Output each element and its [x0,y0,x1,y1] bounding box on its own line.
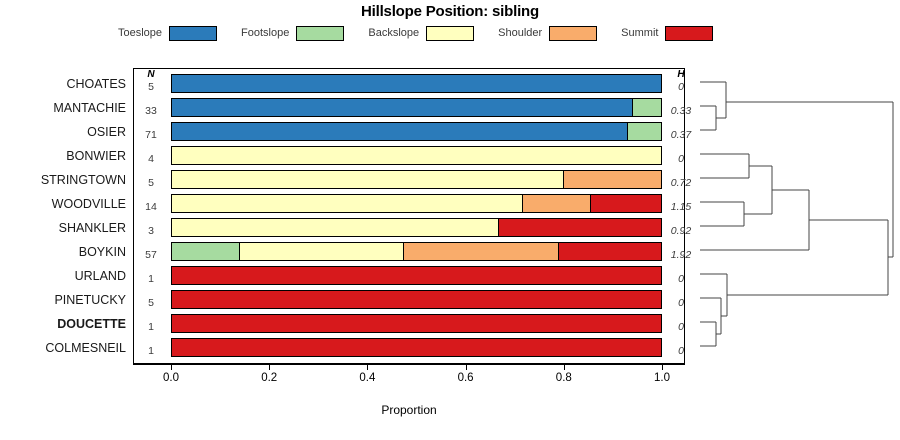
bar-row-pinetucky[interactable] [171,290,662,309]
bar-segment-footslope[interactable] [627,123,661,140]
bar-segment-backslope[interactable] [172,147,661,164]
bar-segment-shoulder[interactable] [403,243,559,260]
category-label-bonwier: BONWIER [0,149,126,163]
legend-item-backslope[interactable]: Backslope [368,26,498,41]
x-axis-line [133,364,685,365]
n-value: 33 [133,105,169,117]
n-value: 5 [133,177,169,189]
x-axis: 0.00.20.40.60.81.0 [133,364,685,404]
bar-row-boykin[interactable] [171,242,662,261]
legend-label: Shoulder [498,27,542,39]
bar-segment-backslope[interactable] [172,219,498,236]
bar-segment-toeslope[interactable] [172,99,632,116]
bar-segment-shoulder[interactable] [522,195,590,212]
bar-row-shankler[interactable] [171,218,662,237]
bar-row-doucette[interactable] [171,314,662,333]
legend-item-summit[interactable]: Summit [621,26,713,41]
category-label-stringtown: STRINGTOWN [0,173,126,187]
x-axis-tick [367,364,368,370]
n-value: 71 [133,129,169,141]
x-axis-title: Proportion [133,403,685,417]
legend-swatch [169,26,217,41]
x-axis-tick [171,364,172,370]
bar-segment-summit[interactable] [590,195,661,212]
category-label-choates: CHOATES [0,77,126,91]
dendrogram-svg [690,60,900,380]
n-value: 3 [133,225,169,237]
legend-item-toeslope[interactable]: Toeslope [118,26,241,41]
x-axis-tick [466,364,467,370]
legend-label: Footslope [241,27,289,39]
legend-swatch [665,26,713,41]
bar-row-colmesneil[interactable] [171,338,662,357]
legend-label: Toeslope [118,27,162,39]
bar-row-stringtown[interactable] [171,170,662,189]
category-label-colmesneil: COLMESNEIL [0,341,126,355]
bar-segment-footslope[interactable] [172,243,239,260]
bar-segment-backslope[interactable] [239,243,403,260]
bar-segment-backslope[interactable] [172,195,522,212]
bar-row-osier[interactable] [171,122,662,141]
page-title: Hillslope Position: sibling [0,3,900,20]
dendrogram [690,60,900,380]
bar-row-woodville[interactable] [171,194,662,213]
n-value: 1 [133,345,169,357]
category-label-column: CHOATESMANTACHIEOSIERBONWIERSTRINGTOWNWO… [0,68,130,364]
bar-segment-summit[interactable] [172,291,661,308]
plot-root: Hillslope Position: sibling ToeslopeFoot… [0,0,900,440]
legend-item-shoulder[interactable]: Shoulder [498,26,621,41]
bar-row-mantachie[interactable] [171,98,662,117]
n-column-header: N [133,69,169,80]
x-axis-tick-label: 0.0 [151,372,191,384]
category-label-doucette: DOUCETTE [0,317,126,331]
x-axis-tick [564,364,565,370]
x-axis-tick-label: 0.2 [249,372,289,384]
legend-label: Backslope [368,27,419,39]
bar-segment-summit[interactable] [498,219,661,236]
legend: ToeslopeFootslopeBackslopeShoulderSummit [118,24,798,42]
n-value: 4 [133,153,169,165]
bar-segment-footslope[interactable] [632,99,661,116]
bar-segment-shoulder[interactable] [563,171,661,188]
n-value: 14 [133,201,169,213]
bar-segment-toeslope[interactable] [172,123,627,140]
n-value: 1 [133,321,169,333]
bar-segment-summit[interactable] [172,315,661,332]
category-label-osier: OSIER [0,125,126,139]
category-label-urland: URLAND [0,269,126,283]
bar-segment-summit[interactable] [172,267,661,284]
x-axis-tick [269,364,270,370]
x-axis-tick-label: 1.0 [642,372,682,384]
n-value: 5 [133,81,169,93]
category-label-pinetucky: PINETUCKY [0,293,126,307]
legend-label: Summit [621,27,658,39]
n-value: 1 [133,273,169,285]
bar-segment-toeslope[interactable] [172,75,661,92]
stacked-bars [171,68,662,364]
bar-segment-backslope[interactable] [172,171,563,188]
category-label-boykin: BOYKIN [0,245,126,259]
bar-segment-summit[interactable] [172,339,661,356]
category-label-shankler: SHANKLER [0,221,126,235]
n-column: N 5337145143571511 [133,68,169,364]
bar-segment-summit[interactable] [558,243,661,260]
legend-item-footslope[interactable]: Footslope [241,26,368,41]
category-label-mantachie: MANTACHIE [0,101,126,115]
x-axis-tick-label: 0.4 [347,372,387,384]
x-axis-tick-label: 0.6 [446,372,486,384]
bar-row-urland[interactable] [171,266,662,285]
n-value: 5 [133,297,169,309]
bar-row-choates[interactable] [171,74,662,93]
category-label-woodville: WOODVILLE [0,197,126,211]
legend-swatch [296,26,344,41]
n-value: 57 [133,249,169,261]
legend-swatch [549,26,597,41]
x-axis-tick-label: 0.8 [544,372,584,384]
x-axis-tick [662,364,663,370]
bar-row-bonwier[interactable] [171,146,662,165]
legend-swatch [426,26,474,41]
